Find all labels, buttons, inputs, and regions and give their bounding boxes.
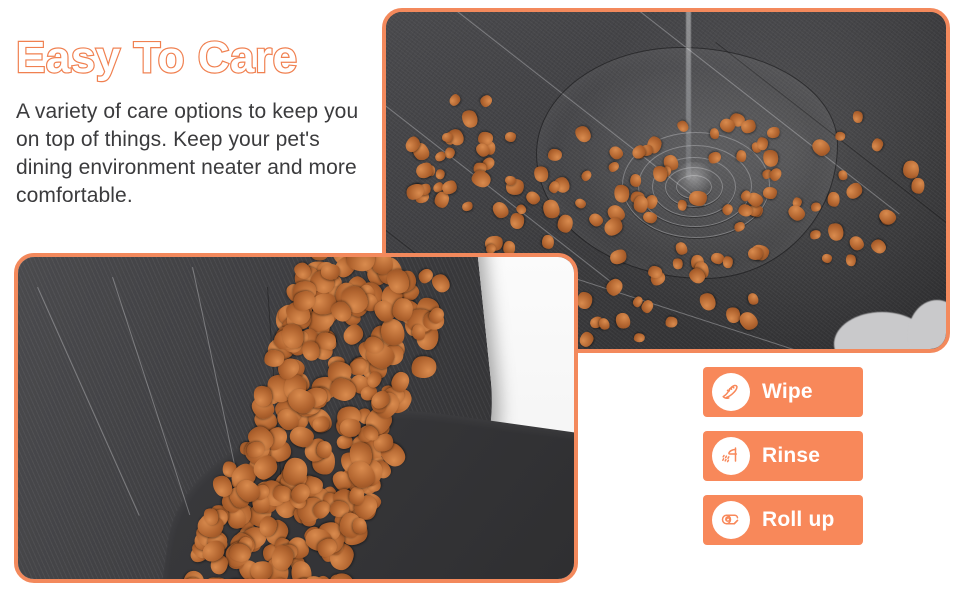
care-badge-rinse[interactable]: Rinse [703,431,863,481]
care-badge-label: Roll up [762,508,835,532]
hand-wipe-cloth-icon [712,373,750,411]
kibble-piece [763,187,777,199]
copy-block: Easy To Care A variety of care options t… [16,36,376,210]
care-badge-label: Wipe [762,380,813,404]
page-title: Easy To Care [16,36,376,80]
body-paragraph: A variety of care options to keep you on… [16,98,376,210]
rolled-mat-pouring-food-photo [14,253,578,583]
kibble-piece [436,169,445,179]
rolled-mat-icon [712,501,750,539]
kibble-piece [821,253,832,263]
water-splash [672,162,716,192]
kibble-piece [835,132,845,141]
care-badge-label: Rinse [762,444,820,468]
kibble-piece [911,178,924,194]
kibble-piece [548,148,562,160]
kibble-piece [505,132,517,142]
kibble-piece [756,136,768,150]
care-badge-list: Wipe Rinse [703,367,863,545]
photo-surface [18,257,574,579]
kibble-piece [689,191,707,207]
promo-banner: Easy To Care A variety of care options t… [0,0,970,600]
kibble-piece [330,572,353,579]
care-badge-rollup[interactable]: Roll up [703,495,863,545]
water-stream [686,12,691,180]
kibble-piece [634,333,645,343]
kibble-piece [349,487,365,506]
shower-head-icon [712,437,750,475]
care-badge-wipe[interactable]: Wipe [703,367,863,417]
kibble-piece [577,291,592,308]
